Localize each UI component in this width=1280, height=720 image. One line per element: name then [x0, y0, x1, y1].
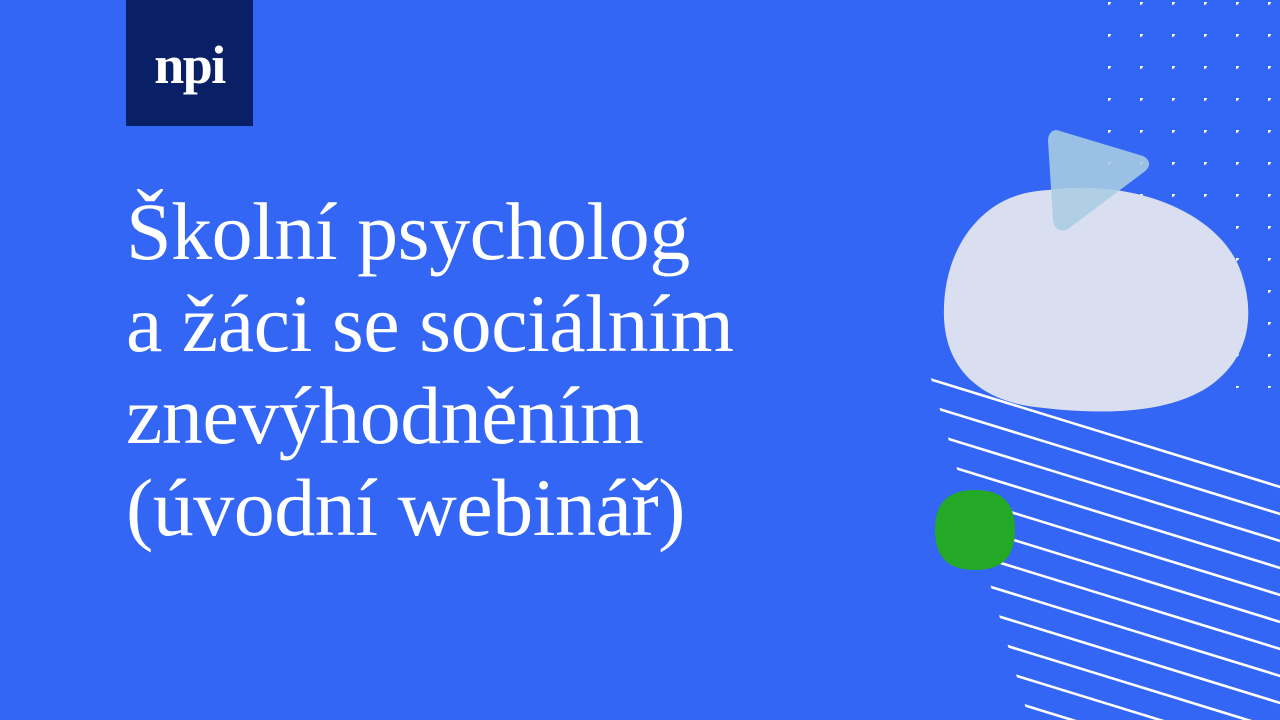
green-circle-shape	[935, 490, 1015, 570]
blob-shape	[944, 188, 1248, 412]
title-line-3: znevýhodněním	[126, 370, 826, 462]
dot-grid-pattern	[1090, 0, 1280, 390]
title-line-1: Školní psycholog	[126, 186, 826, 278]
title-line-4: (úvodní webinář)	[126, 462, 826, 554]
diagonal-lines-pattern	[900, 370, 1280, 720]
page-title: Školní psycholog a žáci se sociálním zne…	[126, 186, 826, 554]
title-line-2: a žáci se sociálním	[126, 278, 826, 370]
play-triangle-icon	[1048, 130, 1149, 230]
npi-logo-text: npi	[154, 38, 225, 92]
slide-canvas: npi Školní psycholog a žáci se sociálním…	[0, 0, 1280, 720]
npi-logo: npi	[126, 0, 253, 126]
